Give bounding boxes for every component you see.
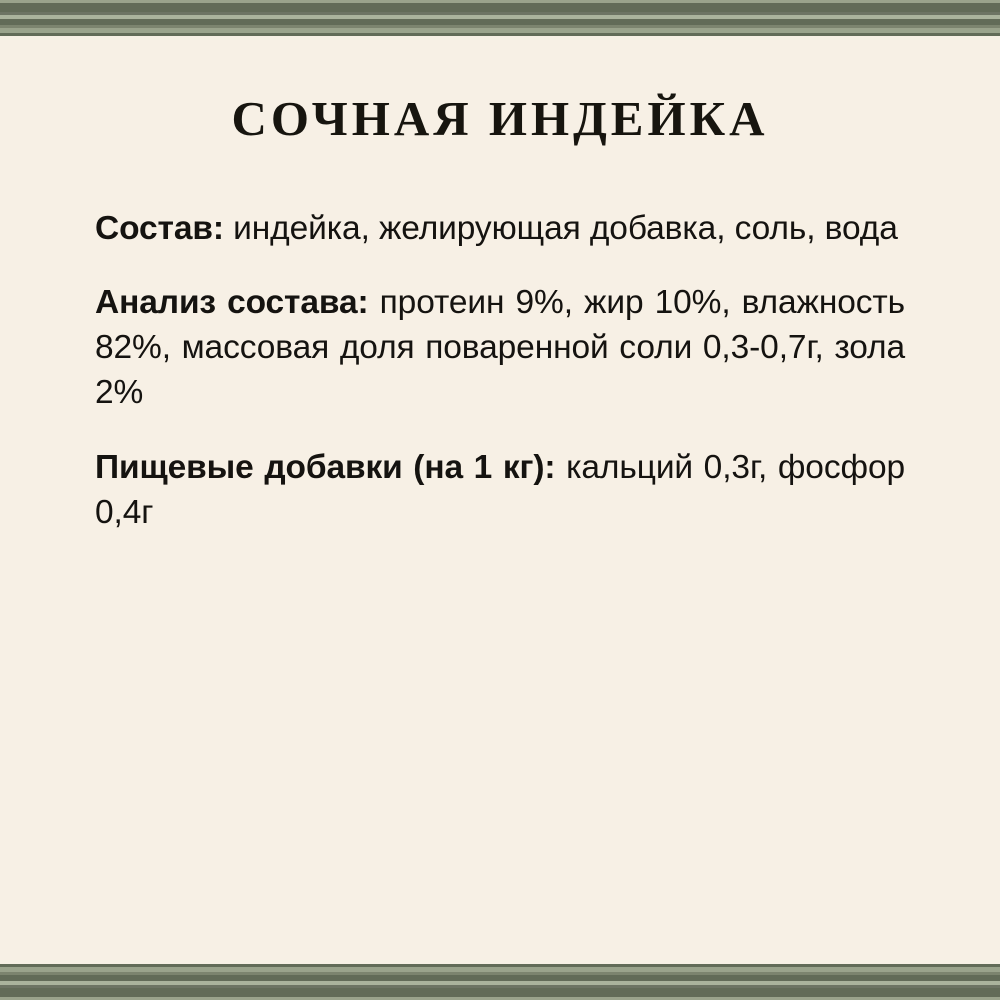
product-label-panel: СОЧНАЯ ИНДЕЙКА Состав: индейка, желирующ… xyxy=(0,0,1000,1000)
spec-analysis-label: Анализ состава: xyxy=(95,284,369,321)
spec-composition: Состав: индейка, желирующая добавка, сол… xyxy=(95,207,905,252)
bottom-border-stripe-6 xyxy=(0,988,1000,997)
page-title: СОЧНАЯ ИНДЕЙКА xyxy=(95,36,905,144)
spec-additives: Пищевые добавки (на 1 кг): кальций 0,3г,… xyxy=(95,446,905,536)
spec-analysis: Анализ состава: протеин 9%, жир 10%, вла… xyxy=(95,281,905,416)
bottom-decorative-border xyxy=(0,964,1000,1000)
spec-additives-label: Пищевые добавки (на 1 кг): xyxy=(95,449,555,486)
top-decorative-border xyxy=(0,0,1000,36)
specification-list: Состав: индейка, желирующая добавка, сол… xyxy=(95,207,905,535)
label-content: СОЧНАЯ ИНДЕЙКА Состав: индейка, желирующ… xyxy=(0,36,1000,964)
top-border-stripe-1 xyxy=(0,3,1000,12)
spec-composition-label: Состав: xyxy=(95,210,224,247)
spec-composition-value: индейка, желирующая добавка, соль, вода xyxy=(224,210,898,247)
